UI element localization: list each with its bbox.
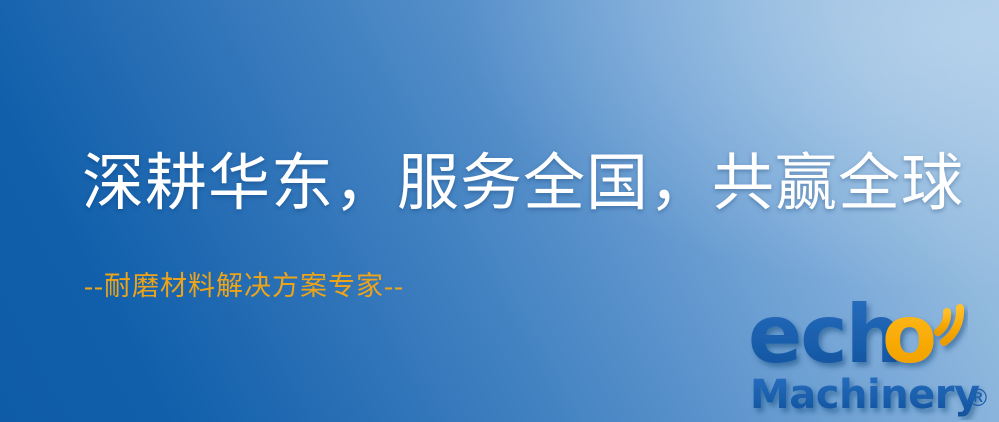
logo-svg: ech o Machinery ® (748, 296, 996, 420)
logo-wordmark-ech: ech (748, 296, 901, 381)
promo-banner: 深耕华东，服务全国，共赢全球 --耐磨材料解决方案专家-- (0, 0, 999, 422)
logo-ech-text: ech (748, 296, 901, 381)
banner-subheadline: --耐磨材料解决方案专家-- (84, 264, 404, 303)
signal-arcs-icon (938, 308, 960, 342)
logo-tagline: Machinery (750, 372, 980, 418)
registered-mark-icon: ® (966, 384, 990, 412)
logo-letter-o: o (882, 296, 937, 381)
echo-machinery-logo: ech o Machinery ® (748, 296, 996, 420)
logo-machinery-text: Machinery (750, 372, 980, 418)
banner-headline: 深耕华东，服务全国，共赢全球 (82, 152, 964, 217)
logo-o-text: o (882, 296, 937, 381)
